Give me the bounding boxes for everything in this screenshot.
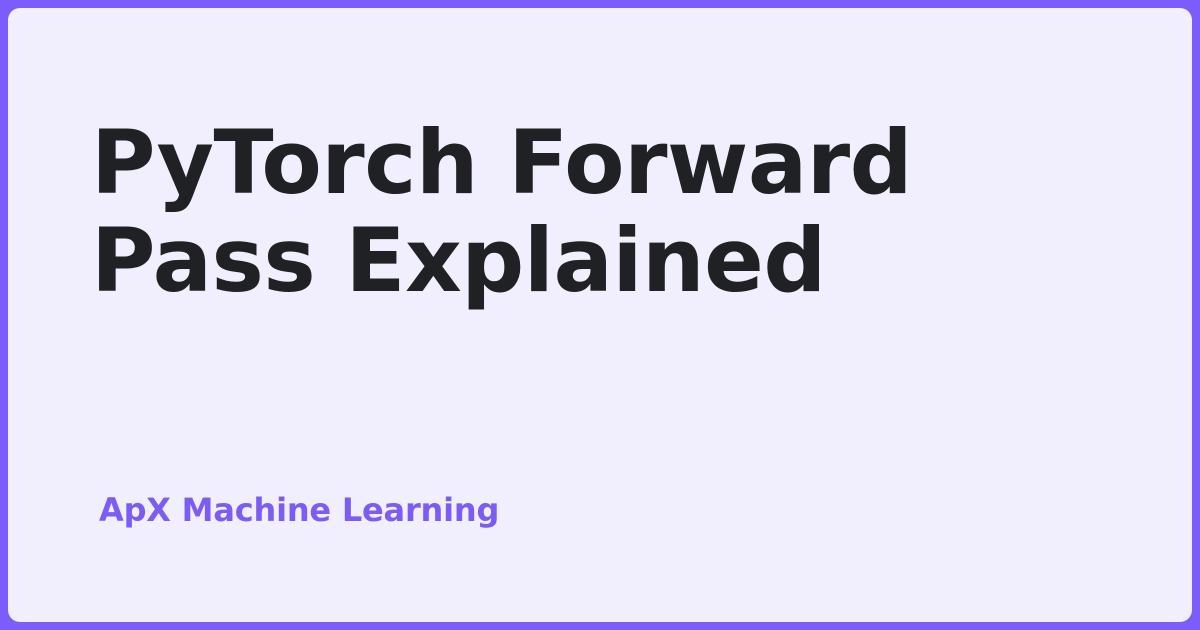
card-surface: PyTorch Forward Pass Explained ApX Machi… [8, 8, 1192, 622]
card-content: PyTorch Forward Pass Explained ApX Machi… [91, 8, 1132, 622]
byline-block: ApX Machine Learning [99, 491, 499, 529]
page-title: PyTorch Forward Pass Explained [91, 114, 1001, 310]
brand-byline: ApX Machine Learning [99, 491, 499, 529]
title-block: PyTorch Forward Pass Explained [91, 114, 1132, 310]
social-share-card: PyTorch Forward Pass Explained ApX Machi… [0, 0, 1200, 630]
